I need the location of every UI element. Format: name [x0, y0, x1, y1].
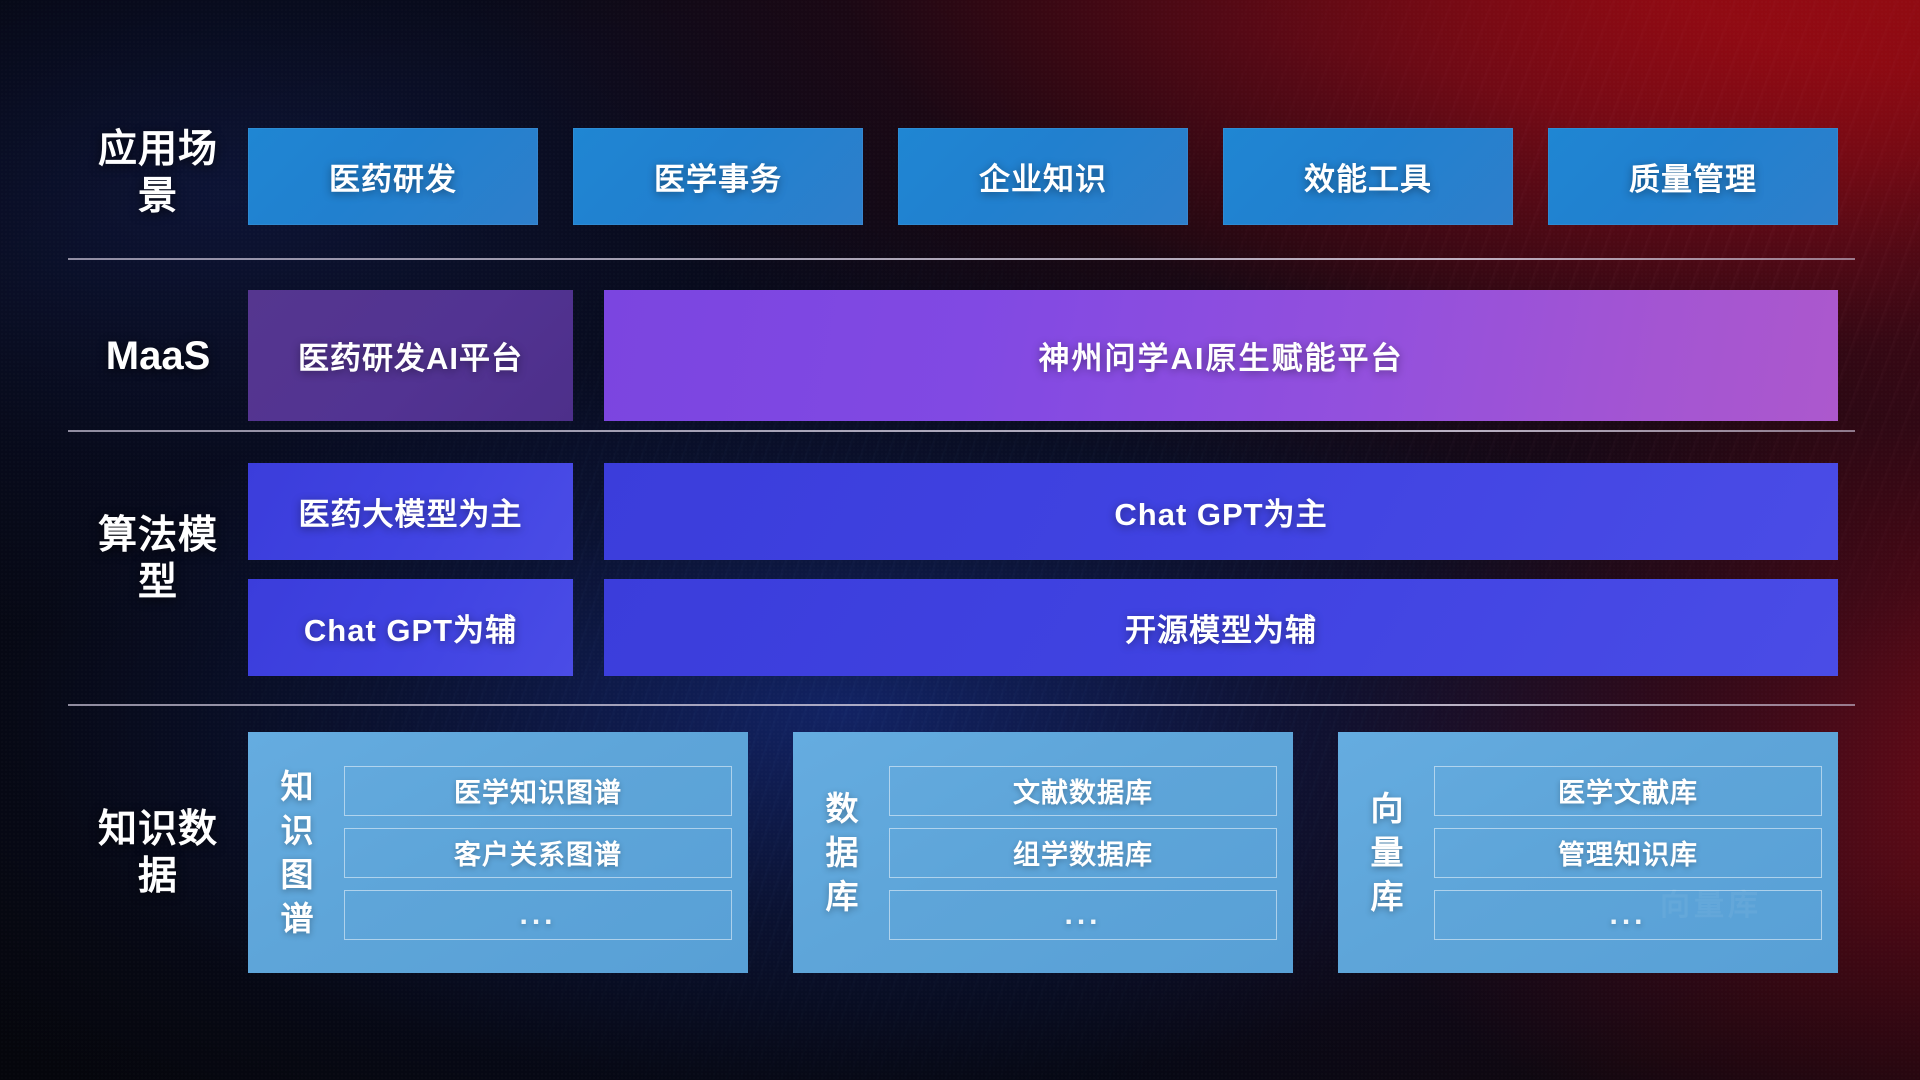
knowledge-card-1[interactable]: 知识图谱 医学知识图谱 客户关系图谱 ... — [248, 732, 748, 973]
app-box-1-label: 医药研发 — [329, 154, 457, 199]
maas-right-box[interactable]: 神州问学AI原生赋能平台 — [604, 290, 1838, 421]
knowledge-card-3-item-1[interactable]: 医学文献库 — [1434, 766, 1822, 816]
knowledge-card-1-item-2[interactable]: 客户关系图谱 — [344, 828, 732, 878]
algo-box-left-2[interactable]: Chat GPT为辅 — [248, 579, 573, 676]
knowledge-card-3-items: 医学文献库 管理知识库 ... — [1434, 766, 1822, 940]
divider-algorithm-knowledge — [68, 704, 1855, 706]
knowledge-card-3-item-2[interactable]: 管理知识库 — [1434, 828, 1822, 878]
app-box-5[interactable]: 质量管理 — [1548, 128, 1838, 225]
knowledge-card-1-item-3[interactable]: ... — [344, 890, 732, 940]
diagram-canvas: 应用场景 医药研发 医学事务 企业知识 效能工具 质量管理 MaaS 医药研发A… — [0, 0, 1920, 1080]
row-label-application: 应用场景 — [88, 126, 228, 220]
knowledge-card-1-items: 医学知识图谱 客户关系图谱 ... — [344, 766, 732, 940]
maas-left-box[interactable]: 医药研发AI平台 — [248, 290, 573, 421]
divider-application-maas — [68, 258, 1855, 260]
app-box-4-label: 效能工具 — [1304, 154, 1432, 199]
diagram-content: 应用场景 医药研发 医学事务 企业知识 效能工具 质量管理 MaaS 医药研发A… — [0, 0, 1920, 1080]
row-label-knowledge: 知识数据 — [88, 806, 228, 900]
knowledge-card-3-title: 向量库 — [1360, 787, 1414, 919]
app-box-2[interactable]: 医学事务 — [573, 128, 863, 225]
knowledge-card-2-item-3[interactable]: ... — [889, 890, 1277, 940]
app-box-2-label: 医学事务 — [654, 154, 782, 199]
knowledge-card-3[interactable]: 向量库 医学文献库 管理知识库 ... — [1338, 732, 1838, 973]
algo-box-right-1[interactable]: Chat GPT为主 — [604, 463, 1838, 560]
algo-box-right-2[interactable]: 开源模型为辅 — [604, 579, 1838, 676]
divider-maas-algorithm — [68, 430, 1855, 432]
algo-box-right-2-label: 开源模型为辅 — [1125, 605, 1317, 650]
maas-left-label: 医药研发AI平台 — [298, 333, 523, 378]
algo-box-left-1[interactable]: 医药大模型为主 — [248, 463, 573, 560]
knowledge-card-1-item-1[interactable]: 医学知识图谱 — [344, 766, 732, 816]
knowledge-card-1-title: 知识图谱 — [270, 765, 324, 941]
knowledge-card-2-item-2[interactable]: 组学数据库 — [889, 828, 1277, 878]
knowledge-card-3-item-3[interactable]: ... — [1434, 890, 1822, 940]
knowledge-card-2-items: 文献数据库 组学数据库 ... — [889, 766, 1277, 940]
knowledge-card-2-title: 数据库 — [815, 787, 869, 919]
algo-box-right-1-label: Chat GPT为主 — [1114, 489, 1327, 534]
app-box-4[interactable]: 效能工具 — [1223, 128, 1513, 225]
row-label-algorithm: 算法模型 — [88, 512, 228, 606]
app-box-3-label: 企业知识 — [979, 154, 1107, 199]
maas-right-label: 神州问学AI原生赋能平台 — [1039, 333, 1404, 378]
algo-box-left-2-label: Chat GPT为辅 — [304, 605, 517, 650]
algo-box-left-1-label: 医药大模型为主 — [299, 489, 523, 534]
app-box-5-label: 质量管理 — [1629, 154, 1757, 199]
knowledge-card-2[interactable]: 数据库 文献数据库 组学数据库 ... — [793, 732, 1293, 973]
app-box-1[interactable]: 医药研发 — [248, 128, 538, 225]
app-box-3[interactable]: 企业知识 — [898, 128, 1188, 225]
knowledge-card-2-item-1[interactable]: 文献数据库 — [889, 766, 1277, 816]
row-label-maas: MaaS — [88, 333, 228, 380]
